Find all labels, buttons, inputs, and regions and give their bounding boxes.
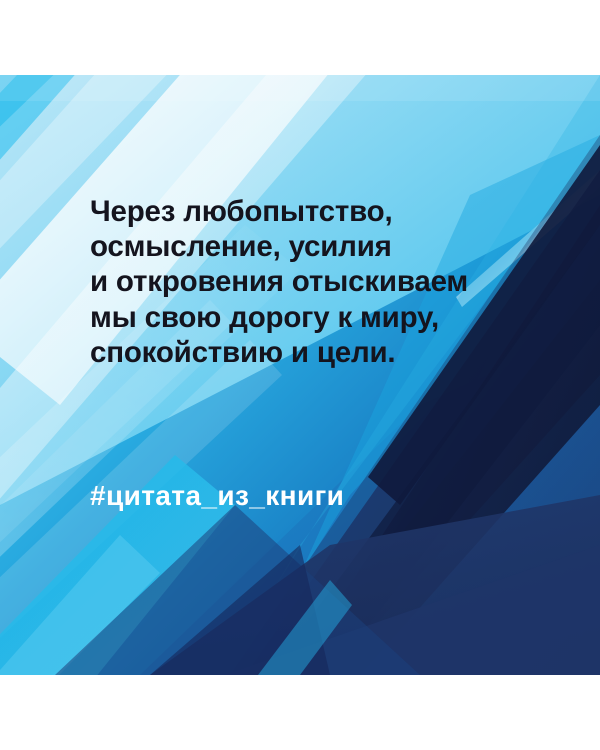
quote-poster: Через любопытство, осмысление, усилия и …: [0, 75, 600, 675]
poster-text-layer: Через любопытство, осмысление, усилия и …: [0, 75, 600, 675]
hashtag-label: #цитата_из_книги: [90, 479, 344, 513]
quote-text: Через любопытство, осмысление, усилия и …: [90, 194, 560, 370]
